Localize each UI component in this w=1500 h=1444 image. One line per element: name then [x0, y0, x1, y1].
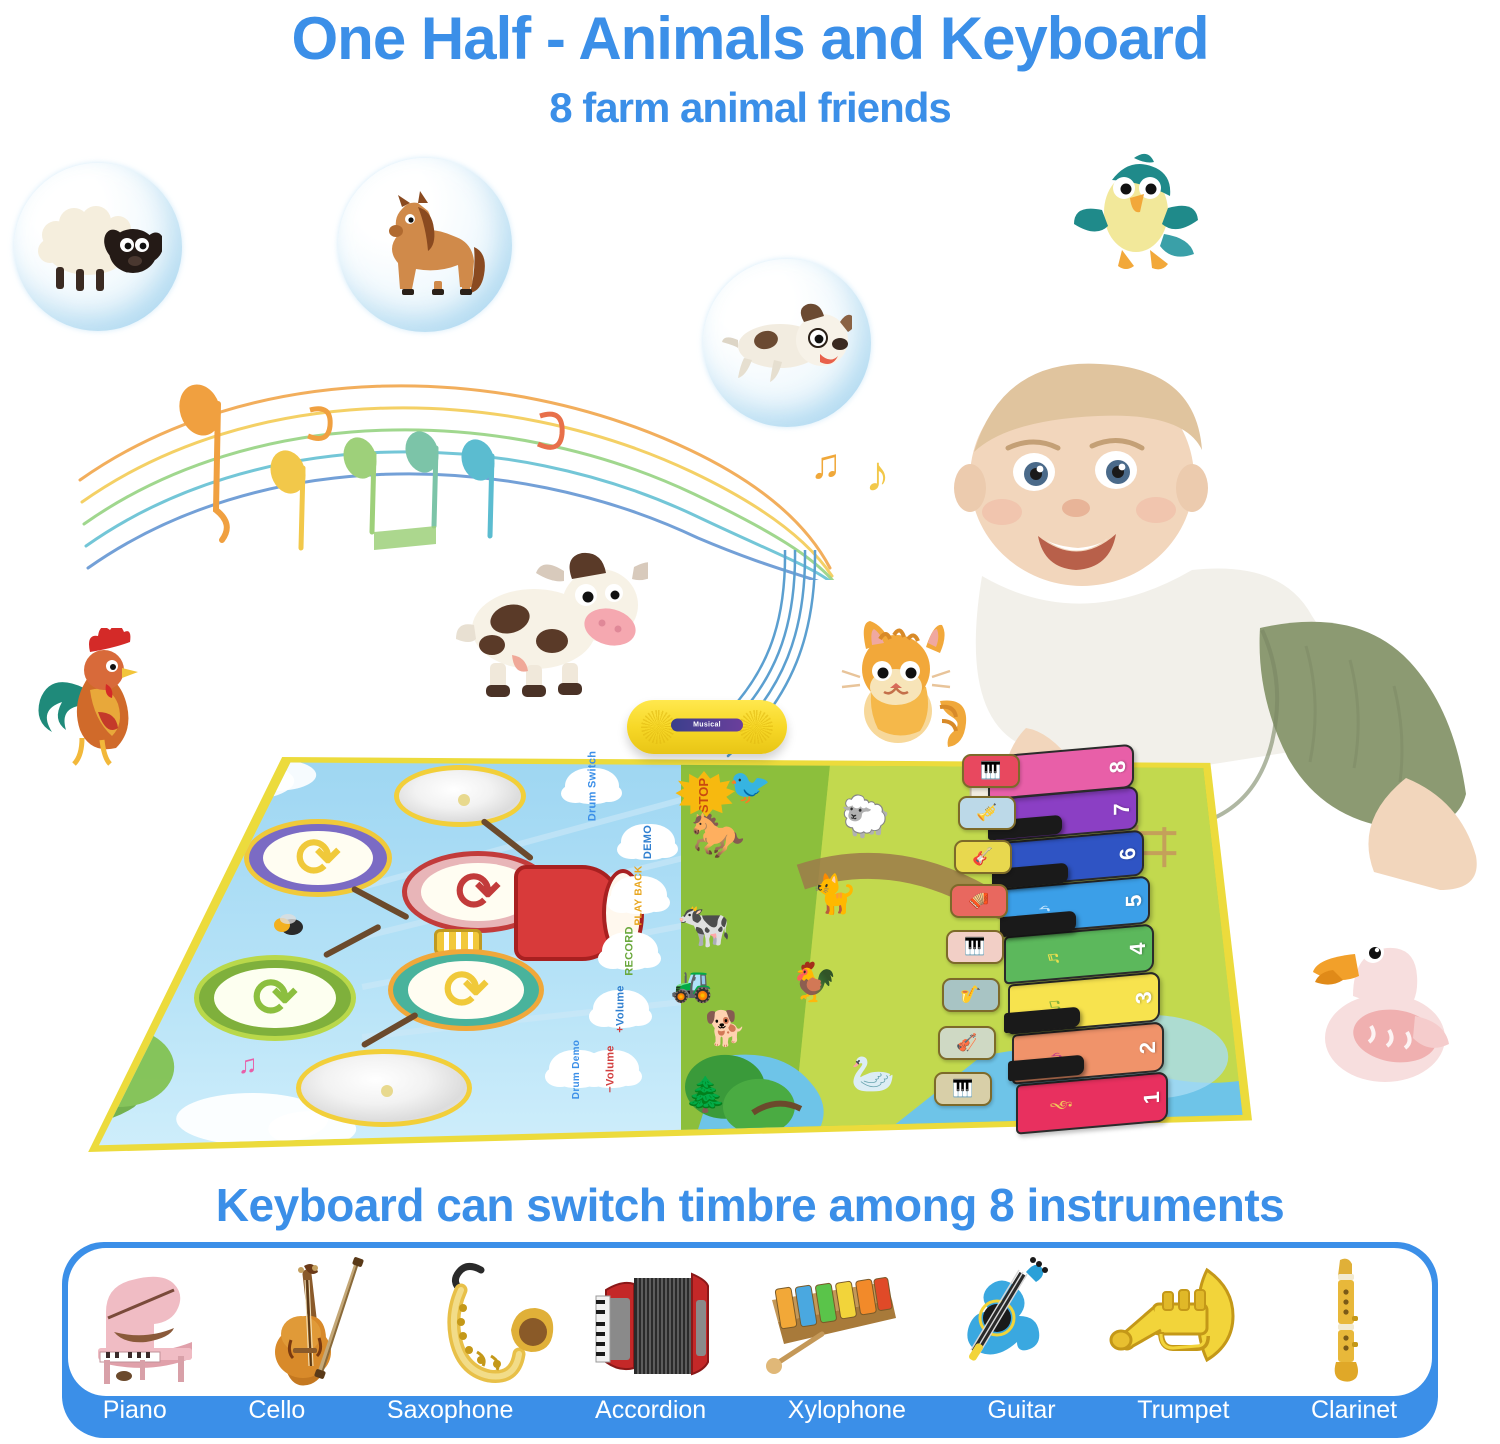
drum-pad-purple[interactable]: ⟳: [244, 819, 392, 897]
bee-icon: [268, 911, 308, 941]
speaker-grill-right: [739, 710, 773, 744]
sheep-icon: [34, 201, 162, 293]
instrument-label-clarinet: Clarinet: [1311, 1396, 1397, 1425]
control-volume-up[interactable]: +Volume: [596, 993, 646, 1025]
mat-instrument-xylophone[interactable]: 🎹: [934, 1072, 992, 1106]
mat-animal-cow: 🐄: [677, 899, 732, 951]
key-number-7: 7: [1109, 802, 1135, 817]
instrument-label-piano: Piano: [103, 1396, 167, 1425]
instrument-label-guitar: Guitar: [988, 1396, 1056, 1425]
xylophone-icon: 🎹: [980, 761, 1001, 781]
minus-icon: −: [605, 1086, 617, 1093]
mat-animal-rooster: 🐓: [791, 961, 838, 1005]
piano-keyboard[interactable]: 𝄞 1 ♪ 2 ♫ 3 ♬ 4 ♪ 5 6 7 8 🎹 🎻 🎷 🎹: [930, 762, 1220, 1140]
mat-tree: 🌲: [685, 1075, 727, 1115]
cow-icon: [452, 545, 648, 707]
mat-instrument-piano[interactable]: 🎹: [962, 754, 1020, 788]
key-number-2: 2: [1135, 1040, 1161, 1055]
cello-icon: [249, 1256, 399, 1388]
organ-icon: 🎹: [952, 1079, 973, 1099]
instrument-saxophone: [419, 1256, 569, 1388]
note-orange: ♫: [810, 440, 842, 488]
instrument-label-trumpet: Trumpet: [1137, 1396, 1229, 1425]
control-drum-demo[interactable]: Drum Demo: [552, 1053, 602, 1085]
bubble-dog: [703, 259, 871, 427]
mat-animal-cat: 🐈: [811, 873, 858, 917]
saxophone-icon: 🎷: [960, 985, 981, 1005]
instrument-label-accordion: Accordion: [595, 1396, 706, 1425]
drum-pad-green[interactable]: ⟳: [194, 955, 356, 1041]
mat-instrument-guitar[interactable]: 🎸: [954, 840, 1012, 874]
mat-animal-duck: 🦢: [851, 1053, 896, 1095]
instrument-label-row: Piano Cello Saxophone Accordion Xylophon…: [62, 1388, 1438, 1432]
control-drum-switch[interactable]: Drum Switch: [568, 771, 616, 801]
instruments-panel: Piano Cello Saxophone Accordion Xylophon…: [62, 1242, 1438, 1438]
mat-animal-sheep: 🐑: [841, 793, 891, 840]
cello-icon: 🎻: [956, 1033, 977, 1053]
accordion-icon: 🎹: [964, 937, 985, 957]
speaker-brand-label: Musical: [671, 718, 743, 731]
mat-animal-bird: 🐦: [729, 767, 771, 807]
instrument-cello: [249, 1256, 399, 1388]
control-record[interactable]: RECORD: [605, 935, 655, 967]
xylophone-icon: [760, 1256, 910, 1388]
key-number-8: 8: [1105, 760, 1131, 775]
saxophone-icon: [419, 1256, 569, 1388]
mat-instrument-guitar-red[interactable]: 🪗: [950, 884, 1008, 918]
mat-animal-horse: 🐎: [691, 809, 746, 861]
instrument-label-saxophone: Saxophone: [387, 1396, 514, 1425]
dog-icon: [722, 300, 852, 386]
plus-icon: +: [615, 1026, 627, 1033]
speaker-module[interactable]: Musical: [627, 700, 787, 754]
page-title: One Half - Animals and Keyboard: [0, 4, 1500, 73]
note-yellow: ♪: [865, 445, 890, 503]
drum-cymbal-bottom[interactable]: [296, 1049, 472, 1127]
trumpet-icon: [1101, 1256, 1251, 1388]
key-number-4: 4: [1125, 942, 1151, 957]
rooster-icon: [32, 628, 162, 768]
key-number-5: 5: [1121, 894, 1147, 909]
key-number-1: 1: [1139, 1090, 1165, 1105]
key-symbol-1: 𝄞: [1051, 1099, 1073, 1112]
footer-headline: Keyboard can switch timbre among 8 instr…: [0, 1178, 1500, 1232]
mat-instrument-saxophone[interactable]: 🎷: [942, 978, 1000, 1012]
accordion-icon: [590, 1256, 740, 1388]
guitar-icon: [931, 1256, 1081, 1388]
music-note-pink: ♫: [238, 1049, 258, 1080]
control-demo[interactable]: DEMO: [624, 827, 672, 857]
instrument-piano: [78, 1256, 228, 1388]
drum-cymbal-top[interactable]: [394, 765, 526, 827]
instrument-guitar: [931, 1256, 1081, 1388]
mat-animal-dog: 🐕: [705, 1009, 747, 1049]
instrument-trumpet: [1101, 1256, 1251, 1388]
instruments-icon-row: [68, 1248, 1432, 1396]
parrot-icon: [1072, 150, 1198, 278]
bubble-horse: [338, 158, 512, 332]
mat-instrument-accordion[interactable]: 🎹: [946, 930, 1004, 964]
instrument-accordion: [590, 1256, 740, 1388]
mat-tractor: 🚜: [671, 965, 713, 1005]
mat-instrument-trumpet[interactable]: 🎺: [958, 796, 1016, 830]
duck-icon: [1293, 930, 1463, 1092]
speaker-grill-left: [641, 710, 675, 744]
guitar-icon: 🎸: [972, 847, 993, 867]
trumpet-icon: 🎺: [976, 803, 997, 823]
bubble-sheep: [14, 163, 182, 331]
piano-icon: [78, 1256, 228, 1388]
instrument-label-cello: Cello: [248, 1396, 305, 1425]
control-play-back[interactable]: PLAY BACK: [614, 879, 664, 911]
clarinet-icon: [1272, 1256, 1422, 1388]
key-number-6: 6: [1115, 847, 1141, 862]
instrument-clarinet: [1272, 1256, 1422, 1388]
key-number-3: 3: [1131, 990, 1157, 1005]
key-symbol-4: ♬: [1042, 946, 1064, 967]
mat-instrument-cello[interactable]: 🎻: [938, 1026, 996, 1060]
instrument-label-xylophone: Xylophone: [788, 1396, 906, 1425]
guitar-strings-icon: 🪗: [968, 891, 989, 911]
horse-icon: [362, 191, 488, 299]
instrument-xylophone: [760, 1256, 910, 1388]
page-subtitle: 8 farm animal friends: [0, 84, 1500, 132]
